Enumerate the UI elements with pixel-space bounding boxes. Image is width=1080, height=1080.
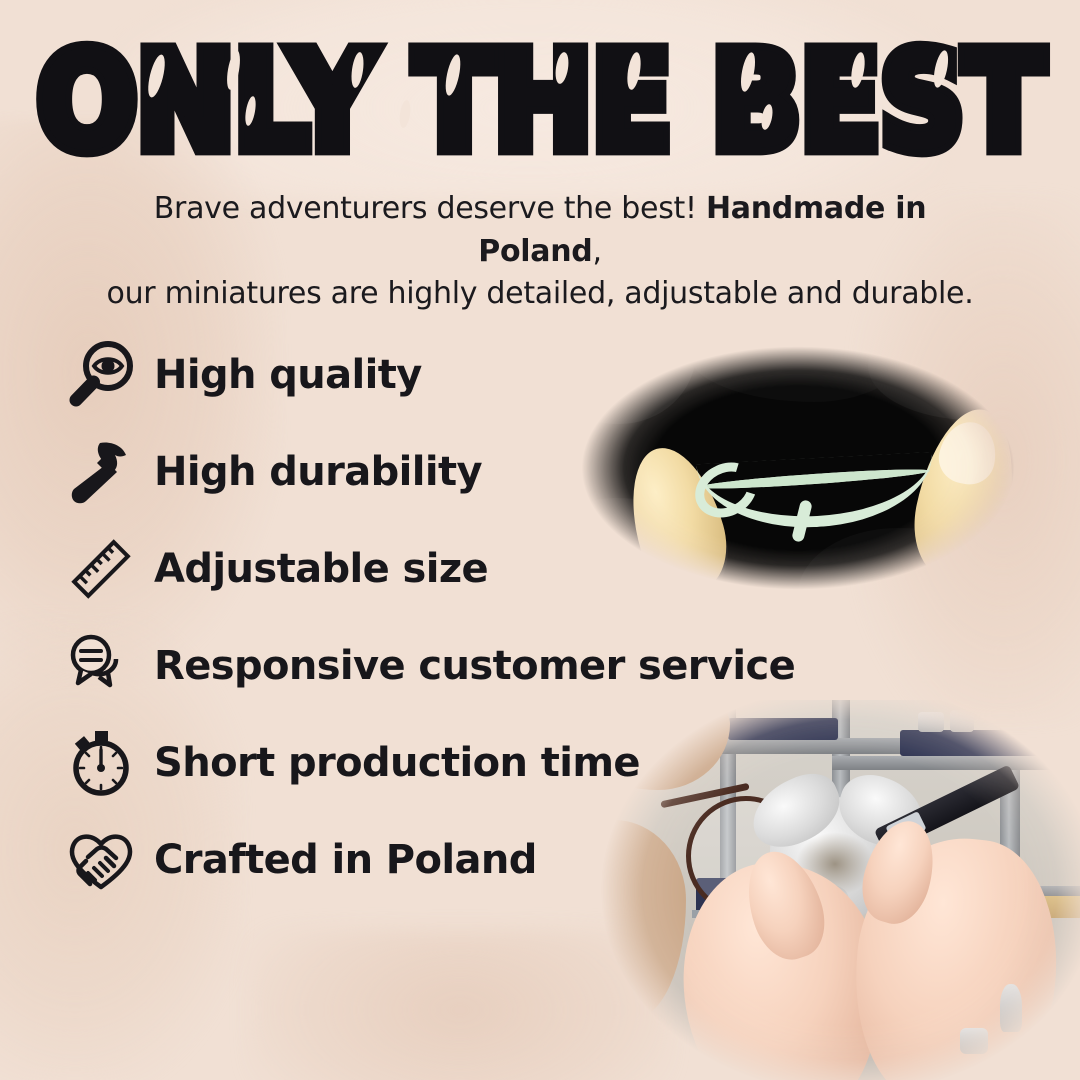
- page-title: ONLY THE BEST: [0, 34, 1080, 169]
- feature-label: Crafted in Poland: [154, 837, 537, 883]
- tray-top-right: [900, 730, 1070, 756]
- handshake-heart-icon: [62, 821, 140, 899]
- shelf-beam-mid: [832, 756, 1080, 770]
- subtitle: Brave adventurers deserve the best! Hand…: [90, 188, 990, 316]
- hammer-icon: [62, 433, 140, 511]
- feature-row: High durability: [62, 423, 782, 520]
- shelf-miniature-a: [918, 712, 944, 732]
- bench-miniature-b: [960, 1028, 988, 1054]
- ruler-icon: [62, 530, 140, 608]
- stopwatch-icon: [62, 724, 140, 802]
- feature-label: Responsive customer service: [154, 643, 795, 689]
- magnifier-eye-icon: [62, 336, 140, 414]
- feature-label: High quality: [154, 352, 422, 398]
- subtitle-line2: our miniatures are highly detailed, adju…: [107, 276, 974, 311]
- feature-row: High quality: [62, 326, 782, 423]
- shelf-miniature-b: [950, 710, 974, 732]
- bench-miniature-a: [1000, 984, 1022, 1032]
- subtitle-tail: ,: [592, 234, 601, 269]
- feature-row: Responsive customer service: [62, 617, 782, 714]
- feature-list: High quality High durability: [62, 326, 782, 908]
- subtitle-lead: Brave adventurers deserve the best!: [154, 191, 706, 226]
- feature-label: Adjustable size: [154, 546, 488, 592]
- feature-row: Crafted in Poland: [62, 811, 782, 908]
- speech-bubbles-icon: [62, 627, 140, 705]
- feature-row: Short production time: [62, 714, 782, 811]
- promo-poster: ONLY THE BEST Brave adventurers deserve …: [0, 0, 1080, 1080]
- feature-label: High durability: [154, 449, 482, 495]
- feature-label: Short production time: [154, 740, 640, 786]
- feature-row: Adjustable size: [62, 520, 782, 617]
